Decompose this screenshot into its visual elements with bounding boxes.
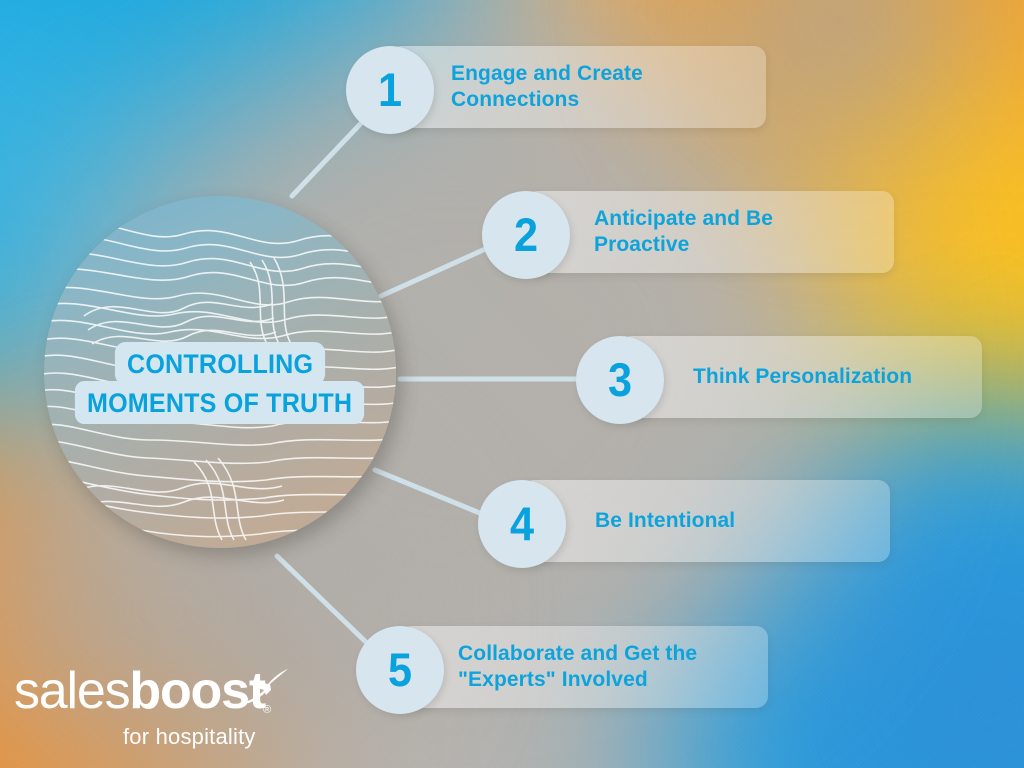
step-number-5: 5	[388, 646, 412, 693]
step-panel-1: Engage and Create Connections	[390, 46, 766, 128]
step-label-5: Collaborate and Get the "Experts" Involv…	[458, 641, 697, 693]
center-circle: CONTROLLING MOMENTS OF TRUTH	[44, 196, 396, 548]
step-number-2: 2	[514, 211, 538, 258]
center-title: CONTROLLING MOMENTS OF TRUTH	[44, 342, 396, 424]
step-panel-3: Think Personalization	[620, 336, 982, 418]
step-number-circle-2[interactable]: 2	[482, 191, 570, 279]
logo-tagline: for hospitality	[123, 724, 256, 750]
rocket-swoosh-icon	[246, 666, 294, 706]
step-number-3: 3	[608, 356, 632, 403]
center-title-line-1: CONTROLLING	[115, 342, 325, 385]
salesboost-logo[interactable]: salesboost ® for hospitality	[10, 662, 300, 758]
step-number-circle-5[interactable]: 5	[356, 626, 444, 714]
infographic-canvas: CONTROLLING MOMENTS OF TRUTH Engage and …	[0, 0, 1024, 768]
center-title-line-2: MOMENTS OF TRUTH	[75, 381, 364, 424]
step-number-circle-1[interactable]: 1	[346, 46, 434, 134]
logo-wordmark: salesboost	[14, 662, 265, 720]
logo-word-boost: boost	[129, 662, 265, 720]
step-number-circle-4[interactable]: 4	[478, 480, 566, 568]
step-panel-5: Collaborate and Get the "Experts" Involv…	[400, 626, 768, 708]
step-label-2: Anticipate and Be Proactive	[594, 206, 773, 258]
logo-word-sales: sales	[14, 662, 129, 720]
step-number-1: 1	[378, 66, 402, 113]
step-panel-4: Be Intentional	[522, 480, 890, 562]
step-label-3: Think Personalization	[693, 364, 912, 390]
step-panel-2: Anticipate and Be Proactive	[526, 191, 894, 273]
step-label-4: Be Intentional	[595, 508, 735, 534]
step-label-1: Engage and Create Connections	[451, 61, 643, 113]
step-number-circle-3[interactable]: 3	[576, 336, 664, 424]
step-number-4: 4	[510, 500, 534, 547]
